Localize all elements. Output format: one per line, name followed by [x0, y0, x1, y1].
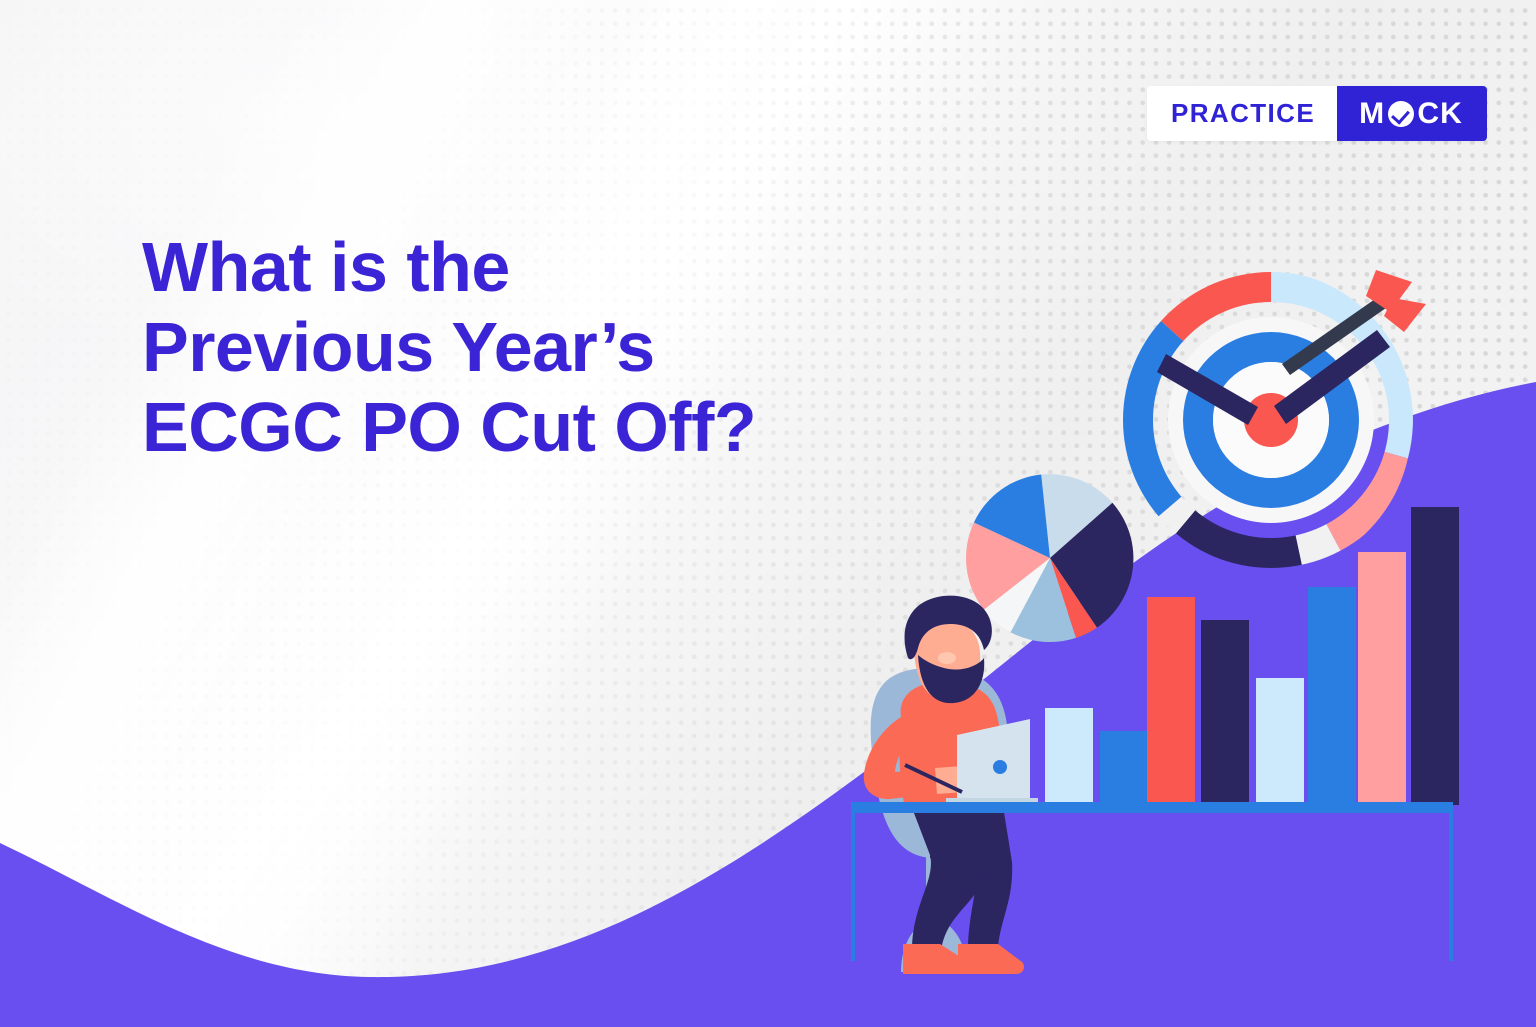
bar-4 — [1201, 620, 1249, 805]
bar-2 — [1100, 731, 1148, 805]
logo-practice-text: PRACTICE — [1147, 86, 1337, 141]
desk-leg-left — [851, 813, 855, 961]
bar-6 — [1308, 587, 1356, 805]
target-dartboard — [1120, 270, 1430, 580]
desk-top — [851, 802, 1453, 813]
headline-line-2: Previous Year’s — [142, 308, 902, 388]
logo-mock-ck: CK — [1417, 97, 1463, 131]
practice-mock-logo[interactable]: PRACTICE M CK — [1147, 86, 1487, 141]
desk-leg-right — [1449, 813, 1453, 961]
logo-mock-text: M CK — [1337, 86, 1487, 141]
check-icon — [1388, 101, 1414, 127]
bar-7 — [1358, 552, 1406, 805]
bar-5 — [1256, 678, 1304, 805]
bar-3 — [1147, 597, 1195, 805]
bar-1 — [1045, 708, 1093, 805]
headline-line-1: What is the — [142, 228, 902, 308]
bar-8 — [1411, 507, 1459, 805]
headline-line-3: ECGC PO Cut Off? — [142, 388, 902, 468]
illustration-artwork — [0, 0, 1536, 1027]
laptop-logo-dot — [993, 760, 1007, 774]
page-title: What is the Previous Year’s ECGC PO Cut … — [142, 228, 902, 467]
banner-canvas: PRACTICE M CK What is the Previous Year’… — [0, 0, 1536, 1027]
logo-mock-m: M — [1359, 97, 1385, 131]
person-ear — [938, 652, 956, 664]
pie-chart — [966, 474, 1133, 642]
